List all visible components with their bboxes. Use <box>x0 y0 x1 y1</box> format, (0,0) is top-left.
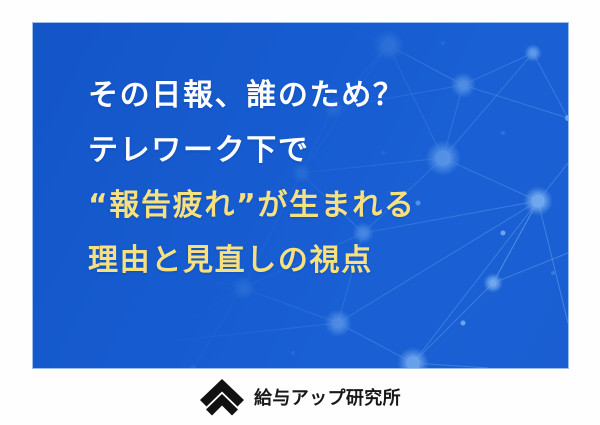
footer-bar: 給与アップ研究所 <box>0 368 600 425</box>
headline-line-4: 理由と見直しの視点 <box>88 233 558 288</box>
headline-line-3: “報告疲れ”が生まれる <box>88 178 558 233</box>
thumbnail-canvas: その日報、誰のため？ テレワーク下で “報告疲れ”が生まれる 理由と見直しの視点… <box>0 0 600 425</box>
brand-logo-lockup[interactable]: 給与アップ研究所 <box>199 377 401 417</box>
headline-line-1: その日報、誰のため？ <box>88 68 558 123</box>
hero-panel: その日報、誰のため？ テレワーク下で “報告疲れ”が生まれる 理由と見直しの視点 <box>33 23 568 368</box>
brand-name-label: 給与アップ研究所 <box>254 384 401 410</box>
headline-line-2: テレワーク下で <box>88 123 558 178</box>
headline-block: その日報、誰のため？ テレワーク下で “報告疲れ”が生まれる 理由と見直しの視点 <box>88 68 558 288</box>
double-chevron-up-icon <box>199 377 245 417</box>
